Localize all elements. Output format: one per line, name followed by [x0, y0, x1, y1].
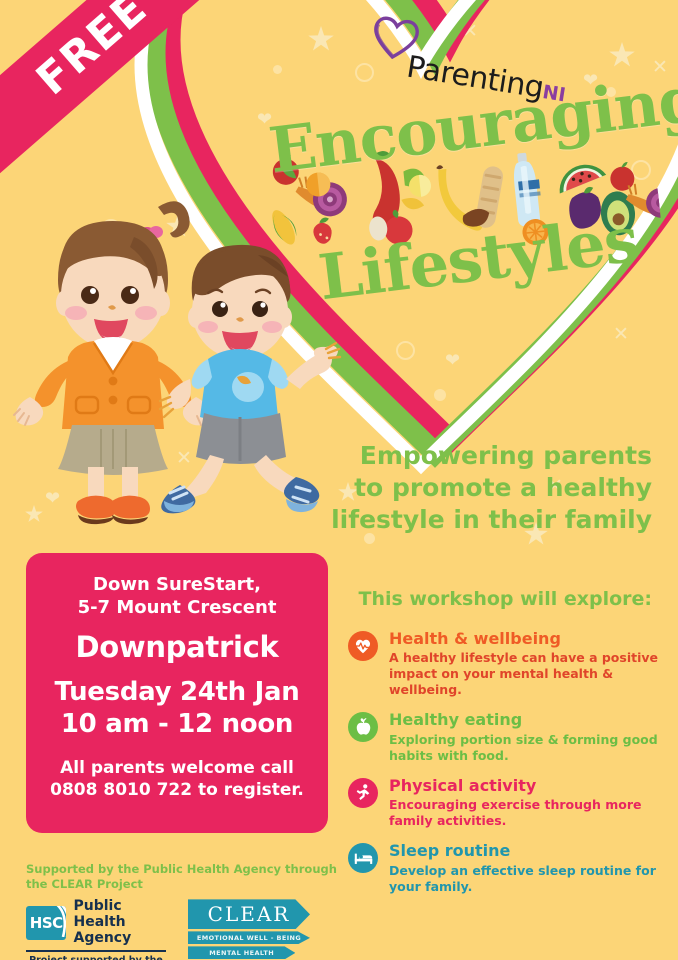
event-contact-line2: 0808 8010 722 to register. [38, 779, 316, 801]
public-health-agency-logo: HSC Public Health Agency Project support… [26, 899, 166, 960]
heart-pulse-icon [348, 631, 378, 661]
brand-suffix: NI [541, 81, 567, 106]
topic-title: Sleep routine [389, 842, 670, 860]
topic-title: Health & wellbeing [389, 630, 670, 648]
event-contact-line1: All parents welcome call [38, 757, 316, 779]
topic-description: Encouraging exercise through more family… [389, 797, 670, 829]
pha-name: Public Health Agency [73, 899, 166, 946]
topic-description: A healthy lifestyle can have a positive … [389, 650, 670, 698]
hsc-mark: HSC [26, 906, 66, 940]
footer: Supported by the Public Health Agency th… [26, 862, 356, 960]
footer-note-line1: Supported by the Public Health Agency th… [26, 862, 356, 877]
clear-bands: CLEAR EMOTIONAL WELL - BEING MENTAL HEAL… [188, 899, 310, 960]
topic-description: Exploring portion size & forming good ha… [389, 732, 670, 764]
explore-heading: This workshop will explore: [322, 588, 652, 610]
topic-item-healthy-eating: Healthy eating Exploring portion size & … [348, 711, 670, 763]
topic-item-physical-activity: Physical activity Encouraging exercise t… [348, 777, 670, 829]
footer-logos: HSC Public Health Agency Project support… [26, 899, 356, 960]
running-person-icon [348, 778, 378, 808]
event-details-card: Down SureStart, 5-7 Mount Crescent Downp… [26, 553, 328, 833]
topic-item-health-wellbeing: Health & wellbeing A healthy lifestyle c… [348, 630, 670, 698]
event-venue-line2: 5-7 Mount Crescent [38, 596, 316, 619]
topics-list: Health & wellbeing A healthy lifestyle c… [348, 630, 670, 908]
footer-support-note: Supported by the Public Health Agency th… [26, 862, 356, 892]
pha-name-line2: Agency [73, 931, 166, 947]
clear-wordmark: CLEAR [188, 899, 310, 929]
girl-character [14, 201, 212, 524]
clear-project-logo: CLEAR EMOTIONAL WELL - BEING MENTAL HEAL… [188, 899, 310, 960]
pha-logo-top: HSC Public Health Agency [26, 899, 166, 946]
topic-text: Healthy eating Exploring portion size & … [389, 711, 670, 763]
clear-tagline-1-label: EMOTIONAL WELL - BEING [197, 934, 301, 942]
footer-note-line2: the CLEAR Project [26, 877, 356, 892]
hand-drawn-heart-icon [366, 10, 425, 64]
apple-icon [348, 712, 378, 742]
topic-text: Sleep routine Develop an effective sleep… [389, 842, 670, 894]
event-venue: Down SureStart, 5-7 Mount Crescent [38, 573, 316, 619]
topic-title: Physical activity [389, 777, 670, 795]
event-time: 10 am - 12 noon [38, 709, 316, 741]
pha-name-line1: Public Health [73, 899, 166, 930]
boy-character [160, 245, 340, 513]
clear-wordmark-label: CLEAR [208, 902, 291, 926]
pha-divider [26, 950, 166, 952]
tagline: Empowering parents to promote a healthy … [322, 440, 652, 536]
event-town: Downpatrick [38, 630, 316, 664]
poster-root: ❤ ❤ ❤ ❤ ❤ ✕ ✕ ✕ ✕ ✕ ✕ FREE ParentingNI E… [0, 0, 678, 960]
topic-item-sleep-routine: Sleep routine Develop an effective sleep… [348, 842, 670, 894]
event-contact: All parents welcome call 0808 8010 722 t… [38, 757, 316, 801]
event-venue-line1: Down SureStart, [38, 573, 316, 596]
clear-tagline-2: MENTAL HEALTH [188, 946, 295, 959]
event-datetime: Tuesday 24th Jan 10 am - 12 noon [38, 677, 316, 740]
topic-text: Physical activity Encouraging exercise t… [389, 777, 670, 829]
topic-title: Healthy eating [389, 711, 670, 729]
pha-subtitle: Project supported by the PHA [26, 955, 166, 960]
clear-tagline-2-label: MENTAL HEALTH [209, 949, 274, 957]
hsc-mark-label: HSC [30, 914, 63, 932]
event-date: Tuesday 24th Jan [38, 677, 316, 709]
topic-text: Health & wellbeing A healthy lifestyle c… [389, 630, 670, 698]
topic-description: Develop an effective sleep routine for y… [389, 863, 670, 895]
clear-tagline-1: EMOTIONAL WELL - BEING [188, 931, 310, 944]
